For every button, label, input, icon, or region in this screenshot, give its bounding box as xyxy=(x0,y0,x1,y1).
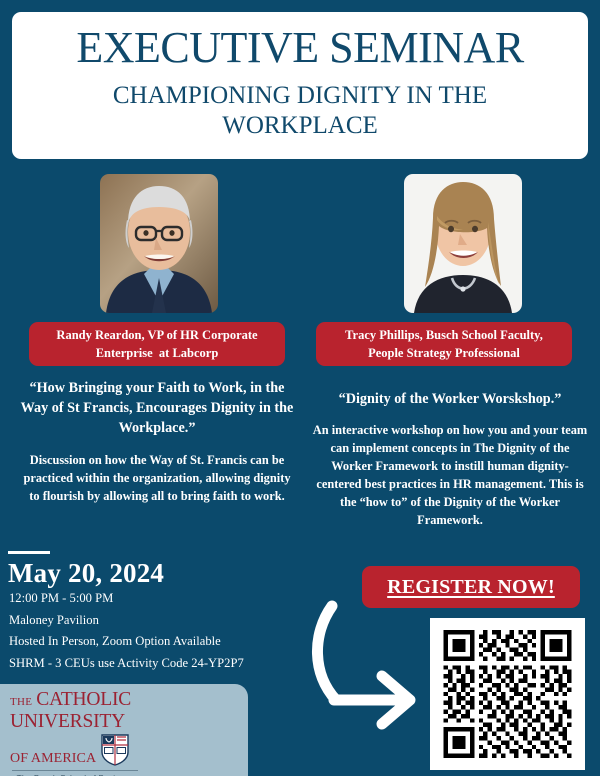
speaker-name-banner-left: Randy Reardon, VP of HR Corporate Enterp… xyxy=(29,322,285,366)
talk-description-right: An interactive workshop on how you and y… xyxy=(309,422,591,530)
qr-code-icon xyxy=(442,630,573,758)
cua-catholic-text: CATHOLIC xyxy=(36,690,131,710)
header-card: EXECUTIVE SEMINAR CHAMPIONING DIGNITY IN… xyxy=(12,12,588,159)
curved-arrow-icon xyxy=(310,600,435,735)
cua-of-america-text: OF AMERICA xyxy=(10,752,96,766)
university-crest-icon xyxy=(101,734,129,766)
talk-title-left: “How Bringing your Faith to Work, in the… xyxy=(17,378,297,438)
footer-logo-panel: THE CATHOLIC UNIVERSITY OF AMERICA xyxy=(0,684,248,776)
event-detail-location: Maloney Pavilion xyxy=(9,614,349,627)
talk-title-right: “Dignity of the Worker Worskshop.” xyxy=(309,389,591,409)
speaker-photo-randy-reardon xyxy=(100,174,218,313)
event-poster: EXECUTIVE SEMINAR CHAMPIONING DIGNITY IN… xyxy=(0,0,600,776)
event-detail-credits: SHRM - 3 CEUs use Activity Code 24-YP2P7 xyxy=(9,657,349,670)
divider-rule xyxy=(8,551,50,554)
speaker-name-banner-right: Tracy Phillips, Busch School Faculty, Pe… xyxy=(316,322,572,366)
qr-code[interactable] xyxy=(430,618,585,770)
page-subtitle: CHAMPIONING DIGNITY IN THE WORKPLACE xyxy=(65,81,535,141)
speaker-left-details: “How Bringing your Faith to Work, in the… xyxy=(17,378,297,506)
event-date: May 20, 2024 xyxy=(8,558,164,589)
speaker-photo-tracy-phillips xyxy=(404,174,522,313)
speaker-right-details: “Dignity of the Worker Worskshop.” An in… xyxy=(309,389,591,530)
event-detail-format: Hosted In Person, Zoom Option Available xyxy=(9,635,349,648)
logo-divider xyxy=(12,770,138,771)
cua-the-text: THE xyxy=(10,697,32,708)
catholic-university-logo: THE CATHOLIC UNIVERSITY OF AMERICA xyxy=(10,690,142,776)
page-title: EXECUTIVE SEMINAR xyxy=(76,26,523,71)
cua-university-text: UNIVERSITY xyxy=(10,711,125,732)
talk-description-left: Discussion on how the Way of St. Francis… xyxy=(17,452,297,506)
event-details: 12:00 PM - 5:00 PM Maloney Pavilion Host… xyxy=(9,592,349,678)
event-detail-time: 12:00 PM - 5:00 PM xyxy=(9,592,349,605)
